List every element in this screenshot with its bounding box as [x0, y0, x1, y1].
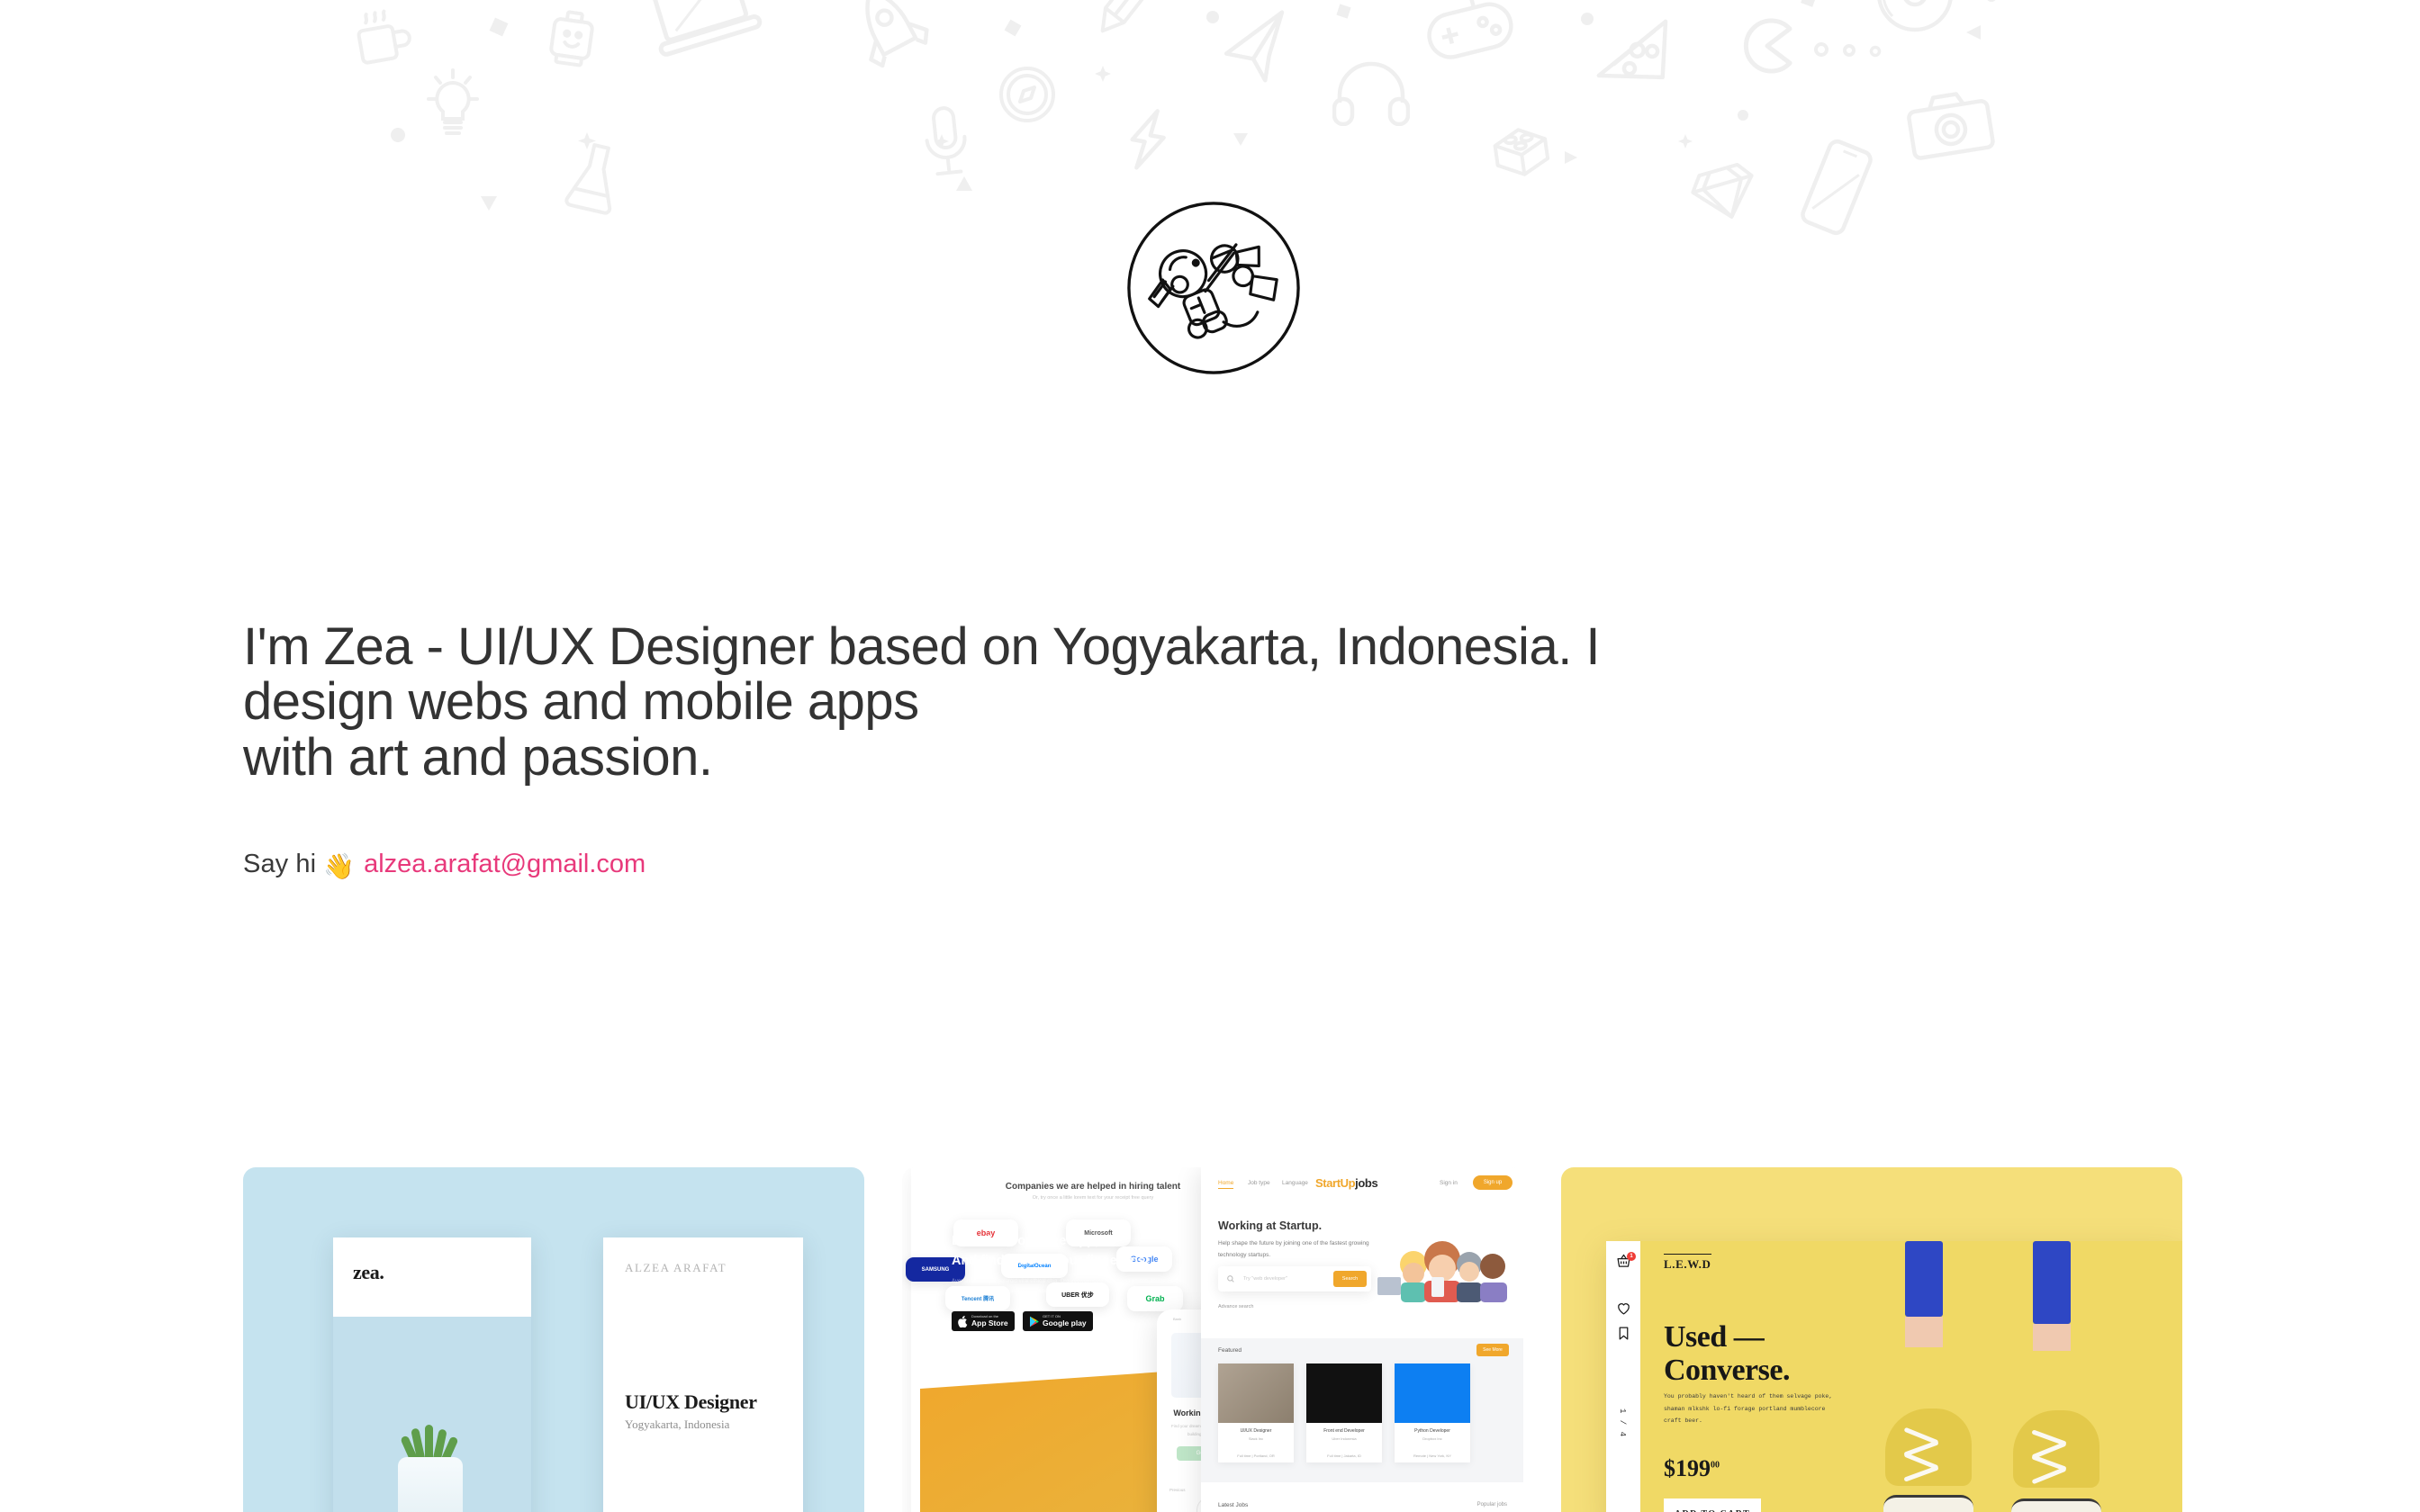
advance-search-toggle[interactable]: Advance search	[1218, 1304, 1253, 1309]
lego-brick-icon	[1485, 116, 1558, 189]
lightbulb-icon	[425, 63, 481, 144]
microphone-icon	[917, 102, 977, 184]
project-cards-row: zea. ALZEA ARAFAT UI/UX Designer Yogyaka…	[243, 1167, 2182, 1512]
square-icon	[1004, 19, 1021, 36]
job-company: Dropbox Inc	[1395, 1436, 1470, 1441]
product-title-line-2: Converse.	[1664, 1354, 1862, 1387]
product-title: Used — Converse.	[1664, 1320, 1862, 1388]
app-promo-paragraph: Ayer shorts deep v polaroid viral ethica…	[952, 1277, 1177, 1298]
star-icon	[576, 131, 598, 153]
job-company: Slack Inc	[1218, 1436, 1294, 1441]
cd-disc-icon	[1874, 0, 1955, 34]
right-leg	[2033, 1241, 2071, 1324]
team-illustration	[1372, 1237, 1516, 1302]
lewd-brand-logo: L.E.W.D	[1664, 1254, 1711, 1272]
business-card-back: ALZEA ARAFAT UI/UX Designer Yogyakarta, …	[603, 1237, 803, 1512]
sign-in-link[interactable]: Sign in	[1440, 1180, 1458, 1186]
google-play-icon	[1029, 1316, 1039, 1327]
headphones-icon	[1332, 59, 1410, 126]
app-store-badge-large: App Store	[971, 1318, 1008, 1327]
job-meta: Full time | Jakarta, ID	[1306, 1453, 1382, 1458]
triangle-icon	[1565, 151, 1577, 164]
sign-up-button[interactable]: Sign up	[1473, 1175, 1512, 1190]
pacman-icon	[1738, 16, 1797, 76]
product-title-line-1: Used —	[1664, 1320, 1862, 1354]
say-hi-label: Say hi	[243, 850, 316, 879]
job-thumbnail	[1395, 1363, 1470, 1423]
job-tile[interactable]: UI/UX Designer Slack Inc Full time | Por…	[1218, 1363, 1294, 1462]
dot-icon	[1206, 11, 1219, 23]
star-icon	[1093, 65, 1113, 85]
job-title: UI/UX Designer	[1218, 1428, 1294, 1434]
product-pagination: 1 / 4	[1618, 1408, 1627, 1437]
waving-hand-icon: 👋	[323, 854, 355, 879]
phone-pager-prev[interactable]: Previous	[1169, 1488, 1186, 1492]
bookmark-icon[interactable]	[1616, 1326, 1631, 1341]
business-card-front: zea.	[333, 1237, 531, 1512]
latest-jobs-label: Latest Jobs	[1218, 1502, 1248, 1508]
email-link[interactable]: alzea.arafat@gmail.com	[364, 850, 646, 879]
dot-icon	[1842, 43, 1856, 58]
dot-icon	[1986, 0, 1997, 2]
heading-line-2: design webs and mobile apps	[243, 674, 2035, 729]
diamond-icon	[1685, 154, 1765, 232]
job-search-button[interactable]: Search	[1333, 1271, 1367, 1287]
lewd-product-page: 1 1 / 4 L.E.W.D	[1606, 1241, 2182, 1512]
job-meta: Full time | Portland, OR	[1218, 1453, 1294, 1458]
app-store-badge-small: Download on the	[971, 1315, 1008, 1319]
triangle-icon	[1966, 25, 1981, 40]
plant-pot	[398, 1457, 463, 1512]
hero-section: I'm Zea - UI/UX Designer based on Yogyak…	[243, 619, 2134, 879]
portfolio-page: I'm Zea - UI/UX Designer based on Yogyak…	[0, 0, 2420, 1512]
job-thumbnail	[1218, 1363, 1294, 1423]
see-more-button[interactable]: See More	[1476, 1344, 1509, 1356]
search-icon	[1227, 1275, 1234, 1282]
product-content: L.E.W.D Used — Converse. You probably ha…	[1640, 1241, 2182, 1512]
converse-shoes-photo	[1856, 1241, 2182, 1512]
triangle-icon	[481, 196, 497, 211]
astronaut-logo[interactable]	[1125, 200, 1302, 376]
rocket-icon	[835, 0, 944, 87]
job-meta: Remote | New York, NY	[1395, 1453, 1470, 1458]
hiring-subheadline: Or, try once a little lorem text for you…	[967, 1195, 1219, 1201]
product-sidebar-rail: 1 1 / 4	[1606, 1241, 1640, 1512]
left-shoe	[1880, 1394, 1981, 1512]
business-card-photo-area	[333, 1317, 531, 1512]
laptop-icon	[635, 0, 775, 76]
nav-item-language[interactable]: Language	[1282, 1180, 1308, 1186]
startupjobs-browser-mockup: Home Job type Language StartUpjobs Sign …	[1201, 1167, 1523, 1512]
job-title: Front end Developer	[1306, 1428, 1382, 1434]
job-search-box[interactable]: Try "web developer" Search	[1218, 1266, 1371, 1291]
paper-plane-icon	[1216, 8, 1301, 92]
page-title: I'm Zea - UI/UX Designer based on Yogyak…	[243, 619, 2035, 785]
right-shoe	[2008, 1394, 2108, 1512]
apple-icon	[958, 1316, 968, 1327]
person-name-label: ALZEA ARAFAT	[625, 1261, 727, 1275]
job-company: Uber Indonesia	[1306, 1436, 1382, 1441]
smartphone-icon	[1794, 134, 1880, 241]
person-location-label: Yogyakarta, Indonesia	[625, 1417, 729, 1432]
pencil-icon	[1083, 0, 1173, 48]
triangle-icon	[1233, 133, 1248, 146]
right-ankle	[2033, 1324, 2071, 1351]
google-play-badge-small: GET IT ON	[1043, 1315, 1087, 1319]
camera-icon	[1902, 84, 1999, 165]
browser-hero-title: Working at Startup.	[1218, 1219, 1322, 1232]
person-role-label: UI/UX Designer	[625, 1390, 757, 1414]
project-card-lewd-store[interactable]: 1 1 / 4 L.E.W.D	[1561, 1167, 2182, 1512]
dot-icon	[1813, 41, 1829, 58]
star-icon	[1676, 133, 1694, 151]
dot-icon	[1738, 110, 1748, 121]
left-leg	[1905, 1241, 1943, 1317]
job-tile[interactable]: Front end Developer Uber Indonesia Full …	[1306, 1363, 1382, 1462]
nav-item-job-type[interactable]: Job type	[1248, 1180, 1270, 1186]
lightning-bolt-icon	[1122, 103, 1174, 176]
app-store-badge[interactable]: Download on the App Store	[952, 1311, 1015, 1331]
startupjobs-brand-logo: StartUpjobs	[1315, 1176, 1377, 1190]
left-ankle	[1905, 1317, 1943, 1347]
coffee-mug-icon	[348, 4, 420, 76]
square-icon	[1336, 4, 1350, 18]
project-card-business-cards[interactable]: zea. ALZEA ARAFAT UI/UX Designer Yogyaka…	[243, 1167, 864, 1512]
popular-jobs-filter[interactable]: Popular jobs	[1477, 1502, 1507, 1507]
square-icon	[1801, 0, 1817, 7]
cart-count-badge: 1	[1627, 1252, 1636, 1261]
dot-icon	[1869, 45, 1882, 58]
product-description: You probably haven't heard of them selva…	[1664, 1390, 1835, 1427]
star-icon	[933, 133, 951, 151]
featured-label: Featured	[1218, 1347, 1242, 1354]
contact-line: Say hi 👋 alzea.arafat@gmail.com	[243, 850, 2134, 879]
browser-hero-paragraph: Help shape the future by joining one of …	[1218, 1237, 1376, 1261]
triangle-icon	[956, 176, 972, 191]
product-price: $19900	[1664, 1455, 1720, 1482]
google-play-badge[interactable]: GET IT ON Google play	[1023, 1311, 1093, 1331]
compass-icon	[998, 65, 1057, 124]
gamepad-icon	[1414, 0, 1523, 67]
heading-line-1: I'm Zea - UI/UX Designer based on Yogyak…	[243, 619, 2035, 674]
dot-icon	[1581, 13, 1594, 25]
square-icon	[489, 17, 508, 36]
job-thumbnail	[1306, 1363, 1382, 1423]
flask-icon	[560, 137, 628, 219]
pizza-icon	[1591, 0, 1684, 103]
job-title: Python Developer	[1395, 1428, 1470, 1434]
lego-head-icon	[544, 8, 600, 70]
heading-line-3: with art and passion.	[243, 730, 2035, 785]
google-play-badge-large: Google play	[1043, 1318, 1087, 1327]
job-tile[interactable]: Python Developer Dropbox Inc Remote | Ne…	[1395, 1363, 1470, 1462]
add-to-cart-button[interactable]: ADD TO CART	[1664, 1498, 1761, 1512]
project-card-startupjobs[interactable]: Companies we are helped in hiring talent…	[902, 1167, 1523, 1512]
zea-brand-label: zea.	[353, 1261, 384, 1284]
nav-item-home[interactable]: Home	[1218, 1180, 1233, 1189]
heart-icon[interactable]	[1616, 1300, 1631, 1316]
job-search-placeholder: Try "web developer"	[1243, 1276, 1287, 1282]
dot-icon	[391, 128, 405, 142]
